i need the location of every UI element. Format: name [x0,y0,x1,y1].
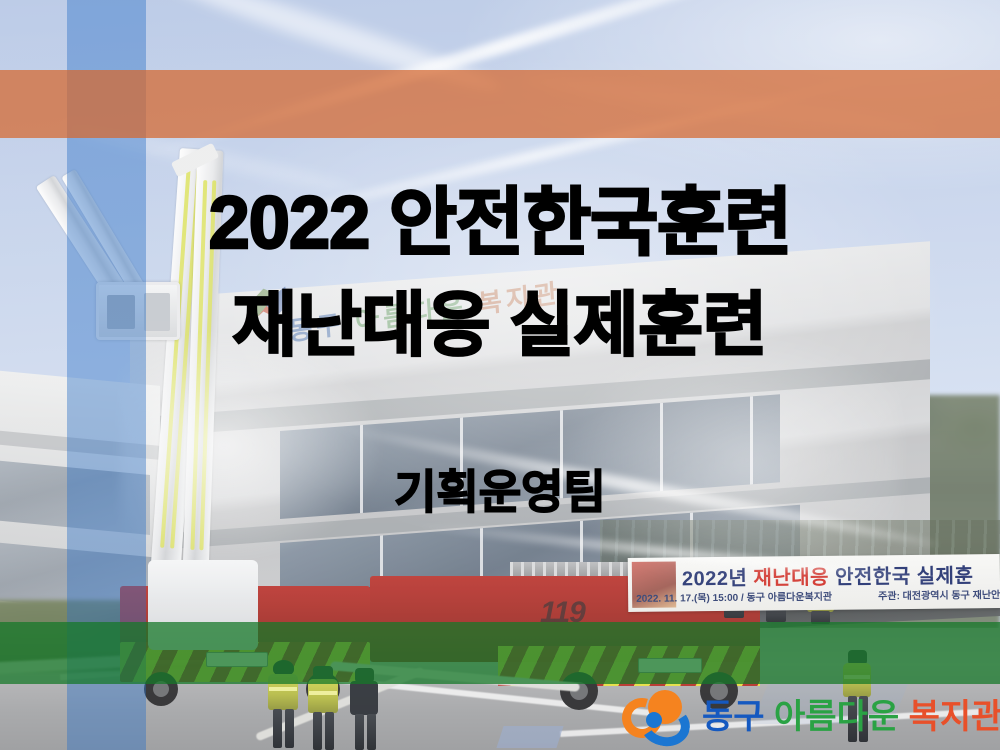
decor-bar-horizontal-orange [0,70,1000,138]
page-title: 2022 안전한국훈련 [0,186,1000,260]
team-name: 기획운영팀 [0,456,1000,522]
logo-blue-dot-icon [646,712,662,728]
decor-bar-horizontal-green [0,622,1000,684]
presentation-slide: 동구 아름다운 복지관 아름다운 119 [0,0,1000,750]
title-block: 2022 안전한국훈련 재난대응 실제훈련 [0,186,1000,360]
organization-logo: 동구 아름다운 복지관 [620,682,990,744]
page-subtitle-line: 재난대응 실제훈련 [0,290,1000,360]
logo-wordmark: 동구 아름다운 복지관 [702,689,1000,738]
logo-swirl-icon [620,684,696,742]
